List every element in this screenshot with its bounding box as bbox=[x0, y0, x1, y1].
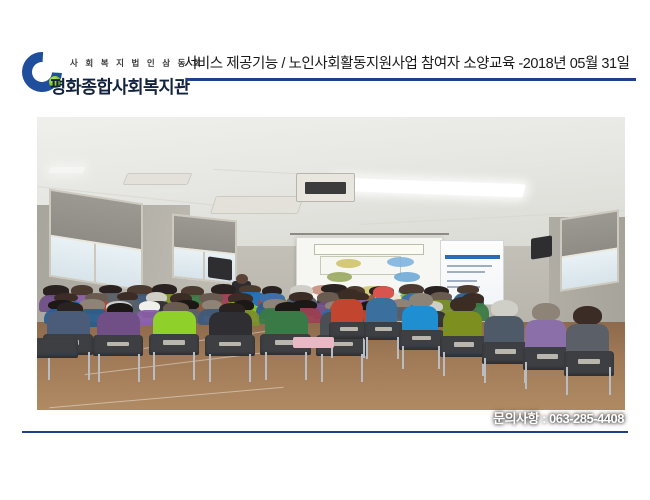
chair-label-tag bbox=[107, 342, 129, 347]
empty-chair bbox=[37, 338, 78, 359]
audience-head bbox=[532, 303, 560, 321]
chair-leg bbox=[366, 337, 368, 359]
audience-head bbox=[573, 306, 602, 325]
chair-leg bbox=[209, 354, 211, 382]
wall-speaker bbox=[208, 256, 232, 280]
footer-divider bbox=[22, 431, 628, 433]
logo-title: 평화종합사회복지관 bbox=[50, 74, 190, 99]
ceiling-vent bbox=[211, 196, 305, 214]
audience-chair bbox=[205, 335, 256, 356]
banner-text-line bbox=[447, 271, 485, 273]
audience-head bbox=[409, 293, 434, 307]
ceiling-vent bbox=[123, 173, 192, 185]
ceiling-projector bbox=[296, 173, 355, 202]
event-photo bbox=[37, 117, 625, 410]
chair-leg bbox=[138, 354, 140, 382]
audience-area bbox=[37, 281, 625, 410]
ceiling-light bbox=[47, 167, 85, 173]
chair-label-tag bbox=[340, 327, 358, 331]
chair-leg bbox=[525, 362, 527, 389]
page-header: 사 회 복 지 법 인 삼 동 회 평화종합사회복지관 서비스 제공기능 / 노… bbox=[0, 0, 650, 110]
projector-lens bbox=[333, 183, 342, 191]
chair-leg bbox=[305, 352, 307, 380]
audience-chair bbox=[564, 351, 615, 375]
chair-label-tag bbox=[412, 336, 432, 340]
chair-label-tag bbox=[163, 340, 185, 345]
screen-rail bbox=[290, 233, 449, 235]
chair-leg bbox=[98, 354, 100, 382]
contact-info: 문의사항 : 063-285-4408 bbox=[493, 408, 624, 427]
audience-head bbox=[450, 297, 476, 312]
banner-text-line bbox=[447, 265, 492, 267]
chair-cloth bbox=[293, 337, 334, 349]
chair-label-tag bbox=[375, 327, 392, 331]
audience-person bbox=[331, 299, 363, 325]
audience-chair bbox=[149, 334, 200, 355]
page-title: 서비스 제공기능 / 노인사회활동지원사업 참여자 소양교육 -2018년 05… bbox=[184, 52, 636, 73]
chair-label-tag bbox=[219, 342, 241, 347]
chair-label-tag bbox=[454, 342, 475, 347]
window-mullion bbox=[203, 252, 205, 279]
chair-leg bbox=[321, 354, 323, 382]
slide-title-box bbox=[314, 244, 424, 255]
chair-leg bbox=[443, 352, 445, 376]
chair-leg bbox=[609, 367, 611, 395]
chair-label-tag bbox=[495, 349, 516, 354]
chair-label-tag bbox=[578, 359, 600, 364]
window bbox=[49, 189, 143, 292]
chair-leg bbox=[265, 352, 267, 380]
chair-leg bbox=[363, 338, 365, 359]
audience-chair bbox=[440, 336, 487, 357]
chair-leg bbox=[566, 367, 568, 395]
chair-label-tag bbox=[537, 354, 559, 359]
window bbox=[560, 209, 619, 292]
slide-oval bbox=[336, 259, 361, 269]
chair-leg bbox=[153, 352, 155, 380]
title-divider bbox=[186, 78, 636, 81]
chair-leg bbox=[193, 352, 195, 380]
chair-leg bbox=[88, 352, 90, 380]
chair-leg bbox=[484, 358, 486, 384]
chair-leg bbox=[249, 354, 251, 382]
banner-accent-bar bbox=[445, 255, 500, 259]
audience-chair bbox=[93, 335, 144, 356]
chair-leg bbox=[402, 346, 404, 369]
audience-head bbox=[491, 300, 518, 317]
organization-logo: 사 회 복 지 법 인 삼 동 회 평화종합사회복지관 bbox=[18, 50, 198, 108]
window-mullion bbox=[94, 244, 96, 282]
wall-speaker bbox=[531, 235, 552, 259]
